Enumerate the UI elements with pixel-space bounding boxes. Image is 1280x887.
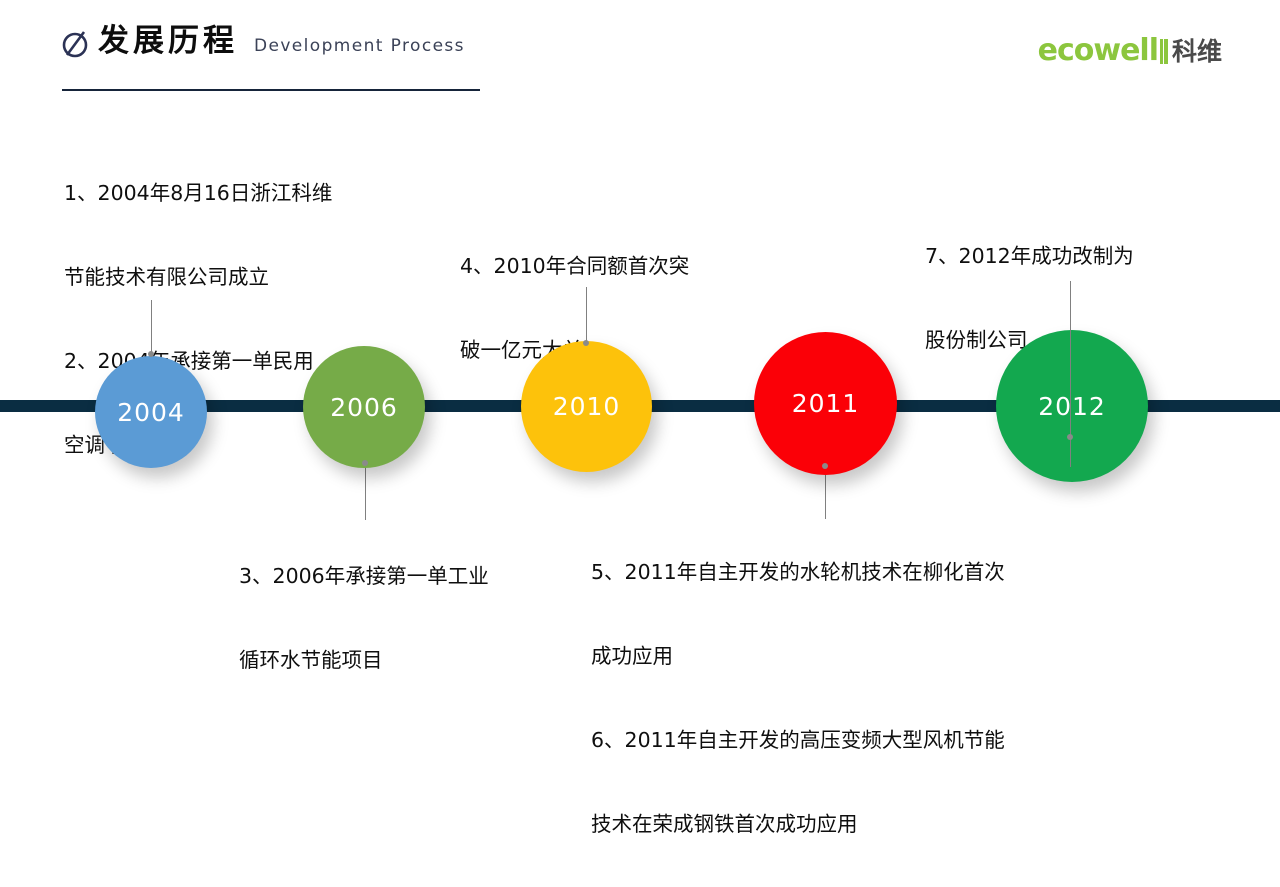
connector-dot-2006 bbox=[362, 460, 368, 466]
brand-logo: ecowell 科维 bbox=[1038, 36, 1222, 66]
header-title-row: 发展历程 Development Process bbox=[60, 26, 490, 60]
timeline-node-2010[interactable]: 2010 bbox=[521, 341, 652, 472]
logo-wordmark: ecowell bbox=[1038, 36, 1158, 66]
timeline-node-label: 2010 bbox=[553, 392, 621, 421]
entry-1-line-1: 1、2004年8月16日浙江科维 bbox=[64, 172, 464, 214]
connector-dot-2011 bbox=[822, 463, 828, 469]
entry-4-line-1: 4、2010年合同额首次突 bbox=[460, 245, 760, 287]
slide-header: 发展历程 Development Process bbox=[60, 26, 490, 96]
timeline-node-2004[interactable]: 2004 bbox=[95, 356, 207, 468]
connector-line-2004 bbox=[151, 300, 152, 357]
timeline-node-2012[interactable]: 2012 bbox=[996, 330, 1148, 482]
connector-dot-2004 bbox=[148, 351, 154, 357]
connector-dot-2012 bbox=[1067, 434, 1073, 440]
entry-3-line-2: 循环水节能项目 bbox=[239, 639, 579, 681]
logo-bars-icon bbox=[1160, 39, 1168, 64]
connector-line-2006 bbox=[365, 462, 366, 520]
timeline-node-label: 2004 bbox=[117, 398, 185, 427]
timeline-node-label: 2011 bbox=[792, 389, 860, 418]
page-subtitle: Development Process bbox=[254, 38, 465, 55]
header-divider bbox=[62, 89, 480, 91]
page-title: 发展历程 bbox=[98, 26, 238, 57]
timeline-node-2006[interactable]: 2006 bbox=[303, 346, 425, 468]
connector-dot-2010 bbox=[583, 340, 589, 346]
entry-6-line-1: 6、2011年自主开发的高压变频大型风机节能 bbox=[591, 719, 1151, 761]
entry-7-line-1: 7、2012年成功改制为 bbox=[925, 235, 1215, 277]
entry-1-line-2: 节能技术有限公司成立 bbox=[64, 256, 464, 298]
timeline-node-label: 2006 bbox=[330, 393, 398, 422]
logo-chinese-name: 科维 bbox=[1172, 39, 1222, 64]
slide-root: 发展历程 Development Process ecowell 科维 2004… bbox=[0, 0, 1280, 720]
timeline-node-label: 2012 bbox=[1038, 392, 1106, 421]
timeline-node-2011[interactable]: 2011 bbox=[754, 332, 897, 475]
entry-5-line-2: 成功应用 bbox=[591, 635, 1151, 677]
entry-3-line-1: 3、2006年承接第一单工业 bbox=[239, 555, 579, 597]
entry-block-3: 3、2006年承接第一单工业 循环水节能项目 bbox=[239, 513, 579, 723]
connector-line-2010 bbox=[586, 287, 587, 345]
slash-circle-icon bbox=[60, 28, 92, 60]
entry-6-line-2: 技术在荣成钢铁首次成功应用 bbox=[591, 803, 1151, 845]
entry-5-line-1: 5、2011年自主开发的水轮机技术在柳化首次 bbox=[591, 551, 1151, 593]
entry-block-5-6: 5、2011年自主开发的水轮机技术在柳化首次 成功应用 6、2011年自主开发的… bbox=[591, 509, 1151, 887]
